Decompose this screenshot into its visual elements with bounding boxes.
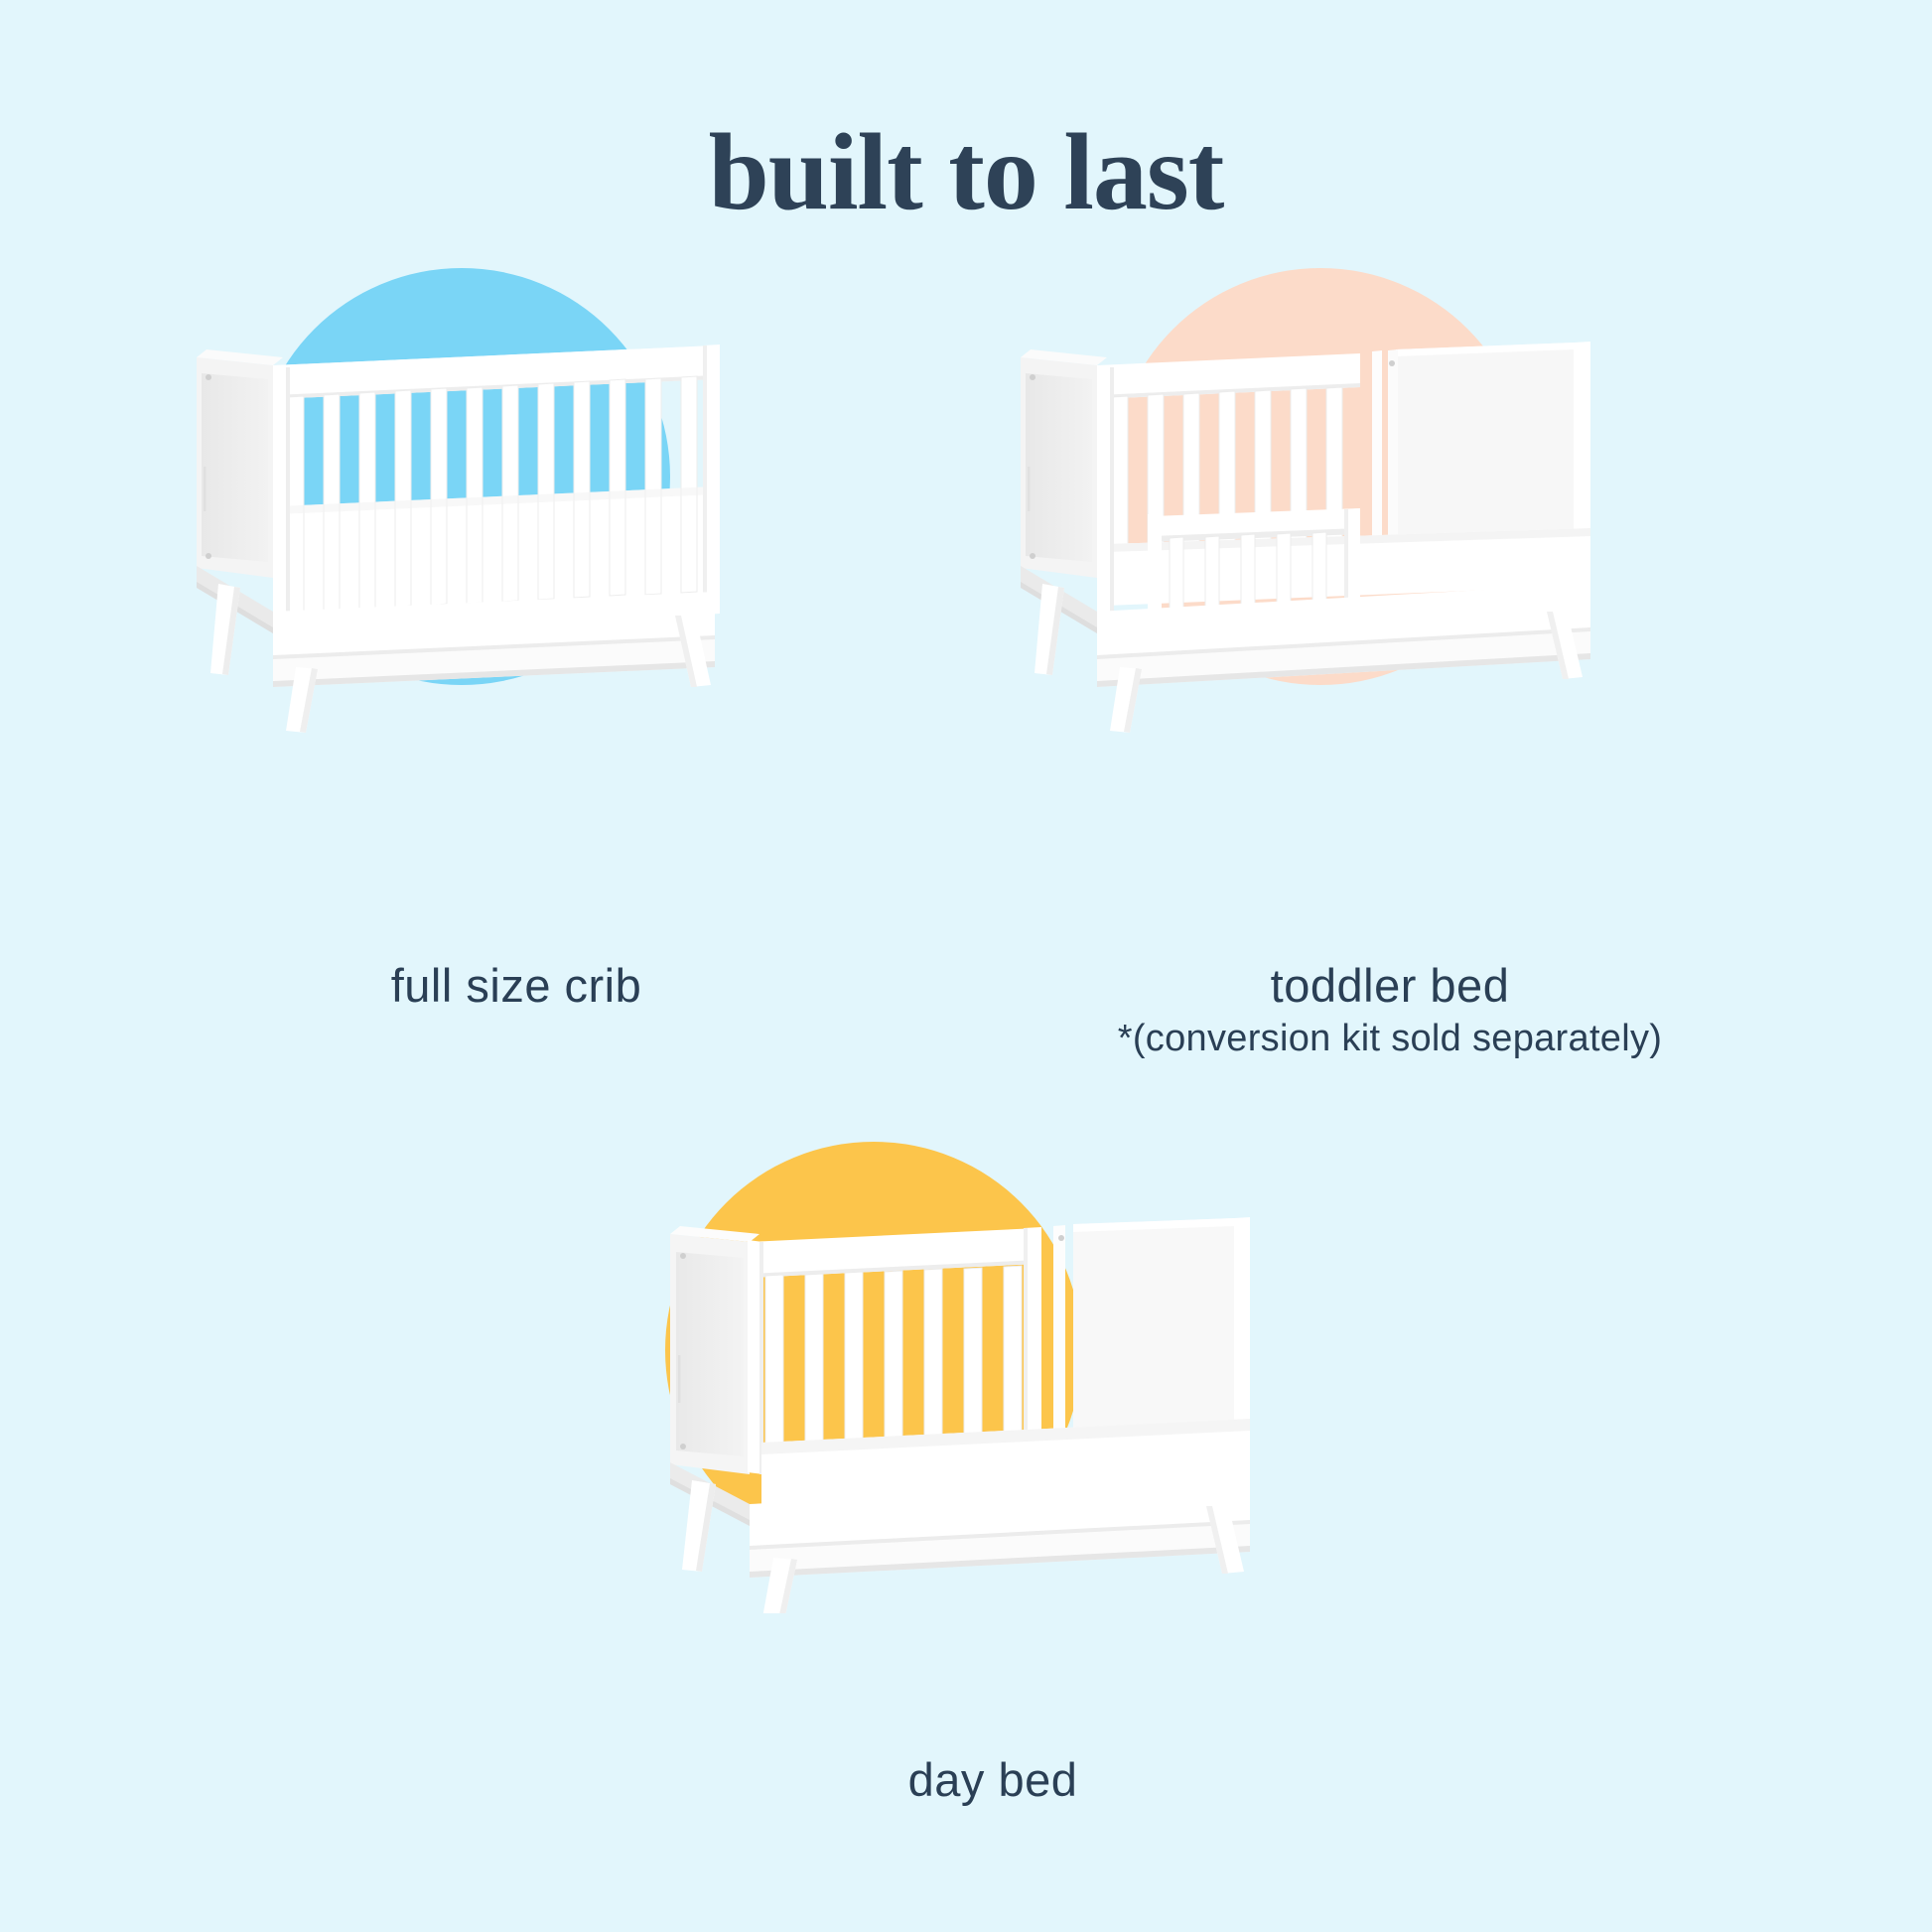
product-panel-day-bed: day bed xyxy=(596,1122,1390,1876)
caption-note: *(conversion kit sold separately) xyxy=(1003,1017,1777,1061)
caption-main: toddler bed xyxy=(1003,958,1777,1013)
product-panel-full-size-crib: full size crib xyxy=(159,248,874,1042)
day-bed-illustration xyxy=(571,1176,1266,1613)
caption-main: full size crib xyxy=(159,958,874,1013)
caption-main: day bed xyxy=(596,1752,1390,1807)
full-size-crib-illustration xyxy=(179,318,774,735)
caption-full-size-crib: full size crib xyxy=(159,958,874,1013)
poster-canvas: built to last xyxy=(0,0,1932,1932)
caption-toddler-bed: toddler bed *(conversion kit sold separa… xyxy=(1003,958,1777,1061)
toddler-bed-illustration xyxy=(1003,318,1658,735)
product-panel-toddler-bed: toddler bed *(conversion kit sold separa… xyxy=(1003,248,1777,1042)
page-title: built to last xyxy=(0,117,1932,226)
caption-day-bed: day bed xyxy=(596,1752,1390,1807)
